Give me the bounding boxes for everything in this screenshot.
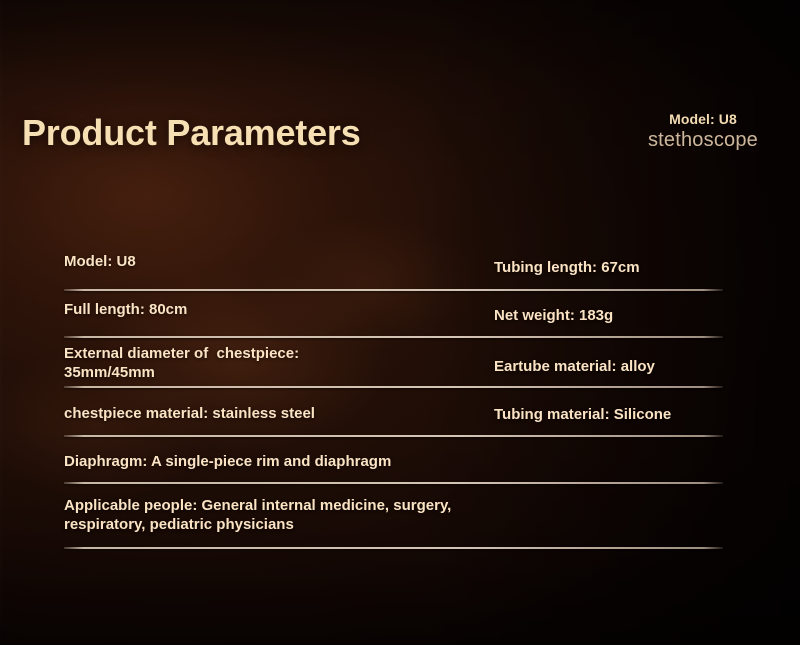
spec-left-row-model: Model: U8 [64,252,484,271]
header: Product Parameters Model: U8 stethoscope [0,0,800,190]
spec-divider-5 [64,482,723,484]
spec-right-row-net-weight: Net weight: 183g [494,306,794,325]
spec-right-row-tubing-length: Tubing length: 67cm [494,258,794,277]
brand-block: Model: U8 stethoscope [648,112,758,151]
spec-divider-2 [64,336,723,338]
spec-left-row-external-diameter: External diameter of chestpiece: 35mm/45… [64,344,484,382]
page-title: Product Parameters [22,112,361,154]
spec-divider-6 [64,547,723,549]
spec-divider-4 [64,435,723,437]
spec-right-row-tubing-material: Tubing material: Silicone [494,405,794,424]
product-parameters-banner: Product Parameters Model: U8 stethoscope… [0,0,800,645]
spec-left-row-chestpiece-material: chestpiece material: stainless steel [64,404,504,423]
spec-divider-1 [64,289,723,291]
spec-left-row-diaphragm: Diaphragm: A single-piece rim and diaphr… [64,452,564,471]
spec-left-row-applicable-people: Applicable people: General internal medi… [64,496,684,534]
spec-left-row-full-length: Full length: 80cm [64,300,484,319]
spec-divider-3 [64,386,723,388]
brand-model-label: Model: U8 [648,112,758,128]
spec-right-row-eartube-material: Eartube material: alloy [494,357,794,376]
brand-product-name: stethoscope [648,129,758,151]
